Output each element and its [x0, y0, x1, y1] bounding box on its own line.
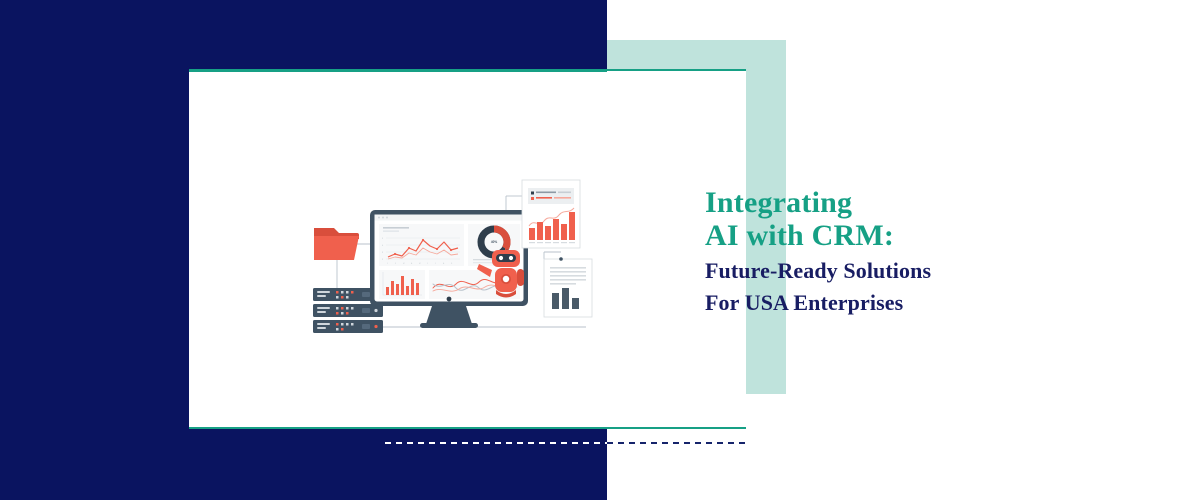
analytics-report-card — [522, 180, 580, 248]
line-chart-panel: 54 32 JFM AMJ JAS — [379, 224, 464, 266]
document-report-card — [544, 257, 592, 317]
svg-text:J: J — [427, 263, 428, 265]
svg-text:J: J — [387, 263, 388, 265]
slide-canvas: 54 32 JFM AMJ JAS — [0, 0, 1200, 500]
teal-rule-top — [189, 69, 746, 71]
page-title-line-1: Integrating — [705, 186, 1175, 219]
dashed-rule-right — [607, 442, 745, 444]
data-folder — [314, 228, 359, 260]
page-title-line-2: AI with CRM: — [705, 219, 1175, 252]
headline-block: Integrating AI with CRM: Future-Ready So… — [705, 186, 1175, 316]
teal-rule-bottom — [189, 427, 746, 429]
server-unit — [313, 304, 383, 317]
page-subtitle-line-2: For USA Enterprises — [705, 284, 1175, 316]
server-unit — [313, 320, 383, 333]
svg-text:J: J — [435, 263, 436, 265]
donut-center-label: 40% — [491, 240, 498, 244]
page-subtitle-line-1: Future-Ready Solutions — [705, 252, 1175, 284]
ai-crm-dashboard-illustration: 54 32 JFM AMJ JAS — [296, 160, 596, 350]
bar-chart-panel — [379, 270, 425, 299]
